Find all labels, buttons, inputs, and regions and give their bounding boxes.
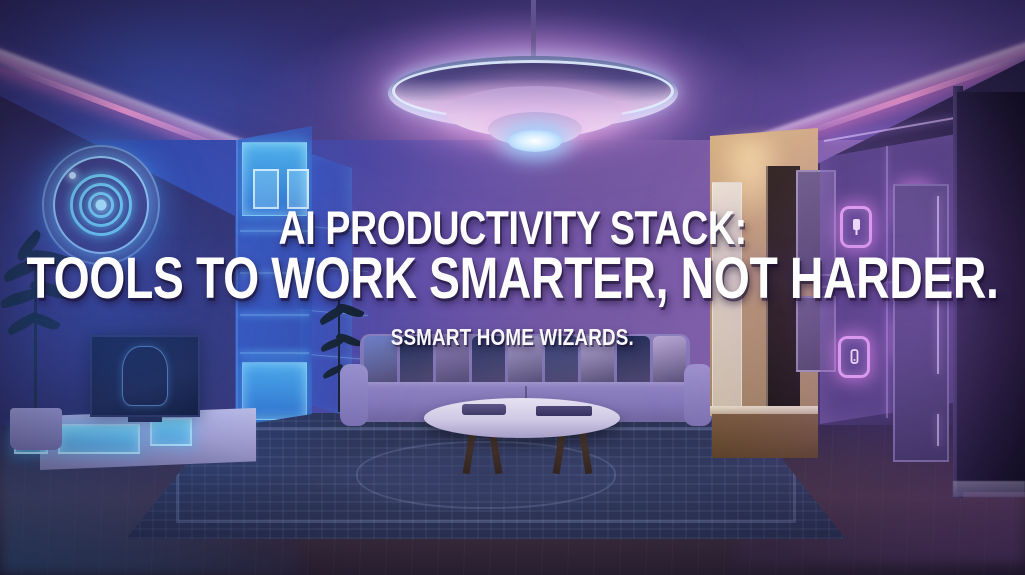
- hallway-door-dark: [766, 166, 800, 416]
- hallway-door-white: [712, 182, 742, 410]
- cabinet-light-line: [240, 230, 309, 232]
- rug-medallion: [356, 441, 615, 509]
- pillow-row: [364, 336, 686, 386]
- right-door: [893, 184, 949, 462]
- illuminated-display-cabinet: [236, 126, 312, 426]
- dark-doorway-baseboard: [953, 481, 1025, 497]
- fixture-rod: [531, 0, 536, 56]
- sofa-arm-right: [684, 364, 712, 426]
- door-light-strip: [937, 300, 939, 374]
- television: [90, 335, 200, 417]
- pillow: [653, 336, 686, 386]
- hallway-floor: [712, 414, 818, 458]
- room-scene: [0, 0, 1025, 575]
- console-glass-door: [58, 424, 140, 454]
- plant-stem: [34, 250, 37, 412]
- cabinet-item: [287, 169, 309, 209]
- cabinet-light-line: [240, 272, 309, 274]
- pillow: [545, 336, 578, 386]
- cabinet-shelf-top: [242, 142, 307, 216]
- table-object: [462, 404, 506, 415]
- cabinet-item: [253, 169, 279, 209]
- pillow: [508, 336, 541, 386]
- circular-smart-display: [42, 145, 160, 265]
- cabinet-light-line: [240, 314, 309, 316]
- plant-pot: [10, 408, 62, 450]
- coffee-table: [424, 398, 620, 438]
- ceiling-light-fixture: [388, 42, 678, 172]
- dark-doorway: [957, 92, 1025, 492]
- console-glass-door: [150, 418, 192, 446]
- device-icon: [849, 216, 864, 238]
- thumbnail-banner: AI PRODUCTIVITY STACK: TOOLS TO WORK SMA…: [0, 0, 1025, 575]
- pillow: [364, 336, 397, 386]
- pillow: [400, 336, 433, 386]
- sofa-arm-left: [340, 364, 368, 426]
- tv-screen-artwork: [122, 346, 169, 405]
- pillow: [472, 336, 505, 386]
- table-object: [536, 406, 592, 416]
- cabinet-light-line: [240, 352, 309, 354]
- pillow: [436, 336, 469, 386]
- phone-icon: [847, 346, 862, 368]
- door-light-strip: [937, 414, 939, 446]
- pillow: [581, 336, 614, 386]
- fixture-core-light: [508, 130, 562, 152]
- panel-tile-3[interactable]: [838, 336, 870, 378]
- display-center-dot: [96, 200, 107, 211]
- tv-stand: [128, 417, 162, 422]
- door-light-strip: [937, 196, 939, 260]
- display-status-led: [69, 172, 76, 179]
- pillow: [617, 336, 650, 386]
- panel-tile-1[interactable]: [840, 206, 872, 248]
